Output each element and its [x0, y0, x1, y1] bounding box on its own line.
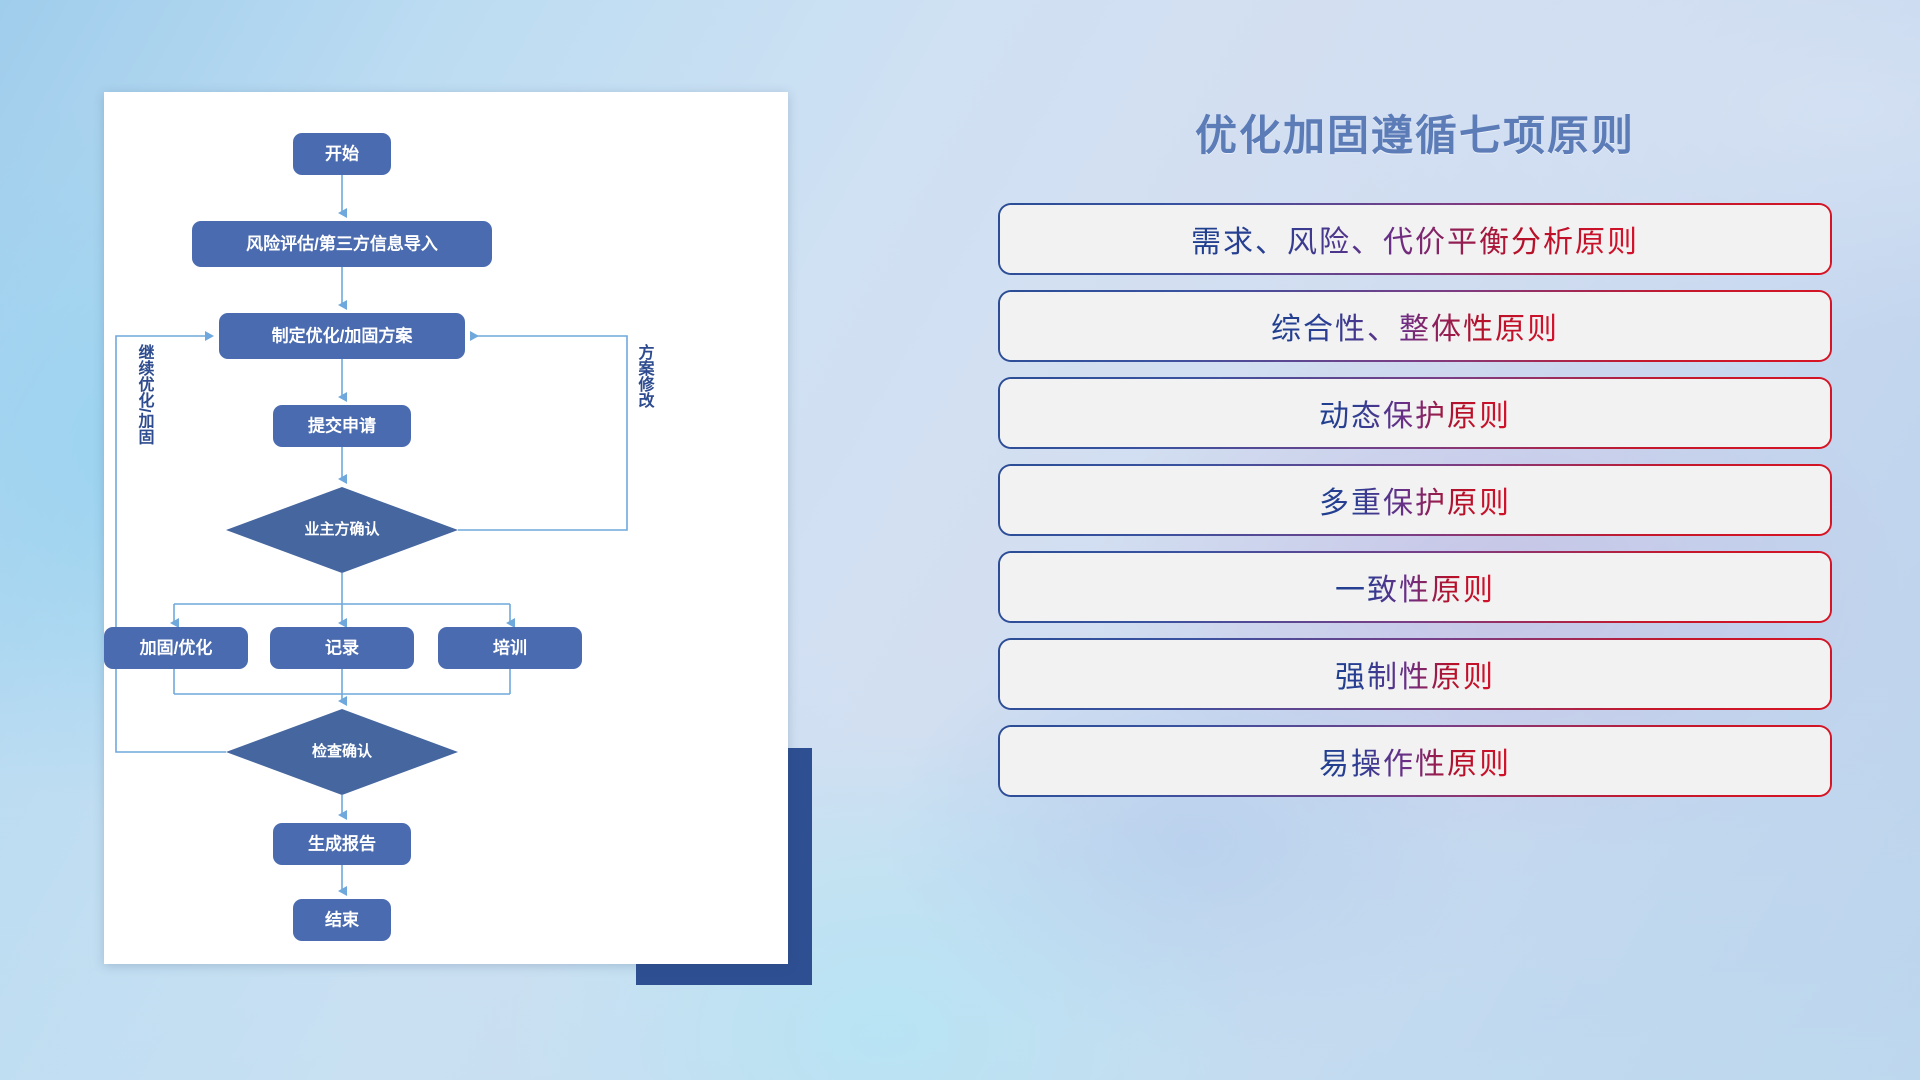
flow-node-end-label: 结束: [325, 909, 359, 929]
flow-node-make-plan-label: 制定优化/加固方案: [272, 325, 414, 345]
flow-node-end[interactable]: 结束: [293, 899, 391, 941]
flow-edge-label-continue-optimize: 继续优化/加固: [136, 343, 156, 445]
principles-list: 需求、风险、代价平衡分析原则 综合性、整体性原则 动态保护原则 多重保护原则 一…: [1000, 205, 1830, 795]
flowchart-card: 开始 风险评估/第三方信息导入 制定优化/加固方案 提交申请 业主方确认 加固/…: [104, 92, 788, 964]
principle-card-7-label: 易操作性原则: [1319, 739, 1511, 783]
principle-card-7[interactable]: 易操作性原则: [1000, 727, 1830, 795]
principle-card-6-label: 强制性原则: [1335, 652, 1495, 696]
flow-node-risk-assessment[interactable]: 风险评估/第三方信息导入: [192, 221, 492, 267]
flow-node-risk-assessment-label: 风险评估/第三方信息导入: [246, 233, 438, 253]
flow-node-start-label: 开始: [325, 143, 359, 163]
flow-node-record[interactable]: 记录: [270, 627, 414, 669]
flow-node-submit-application[interactable]: 提交申请: [273, 405, 411, 447]
flow-node-record-label: 记录: [325, 638, 359, 657]
principles-panel: 优化加固遵循七项原则 需求、风险、代价平衡分析原则 综合性、整体性原则 动态保护…: [1000, 80, 1830, 1000]
principle-card-3-label: 动态保护原则: [1319, 391, 1511, 435]
flow-node-generate-report-label: 生成报告: [308, 833, 376, 853]
flowchart-diagram: 开始 风险评估/第三方信息导入 制定优化/加固方案 提交申请 业主方确认 加固/…: [104, 92, 788, 964]
flow-node-submit-application-label: 提交申请: [308, 415, 376, 435]
flow-node-reinforce-optimize-label: 加固/优化: [139, 637, 213, 657]
principle-card-5-label: 一致性原则: [1335, 565, 1495, 609]
flow-node-generate-report[interactable]: 生成报告: [273, 823, 411, 865]
flow-node-inspection-confirm-label: 检查确认: [312, 742, 373, 760]
flow-node-training[interactable]: 培训: [438, 627, 582, 669]
principle-card-1[interactable]: 需求、风险、代价平衡分析原则: [1000, 205, 1830, 273]
flow-node-inspection-confirm[interactable]: 检查确认: [226, 709, 458, 795]
principle-card-4[interactable]: 多重保护原则: [1000, 466, 1830, 534]
principle-card-4-label: 多重保护原则: [1319, 478, 1511, 522]
principle-card-2-label: 综合性、整体性原则: [1271, 304, 1559, 348]
flow-node-start[interactable]: 开始: [293, 133, 391, 175]
principle-card-3[interactable]: 动态保护原则: [1000, 379, 1830, 447]
principle-card-2[interactable]: 综合性、整体性原则: [1000, 292, 1830, 360]
flow-edge-label-plan-revision: 方案修改: [636, 343, 656, 409]
flow-node-reinforce-optimize[interactable]: 加固/优化: [104, 627, 248, 669]
flow-node-training-label: 培训: [493, 637, 527, 657]
principle-card-1-label: 需求、风险、代价平衡分析原则: [1191, 217, 1639, 261]
flow-node-owner-confirm-label: 业主方确认: [304, 520, 380, 538]
principle-card-5[interactable]: 一致性原则: [1000, 553, 1830, 621]
principle-card-6[interactable]: 强制性原则: [1000, 640, 1830, 708]
panel-title: 优化加固遵循七项原则: [1000, 102, 1830, 163]
flow-node-owner-confirm[interactable]: 业主方确认: [226, 487, 458, 573]
flow-node-make-plan[interactable]: 制定优化/加固方案: [219, 313, 465, 359]
